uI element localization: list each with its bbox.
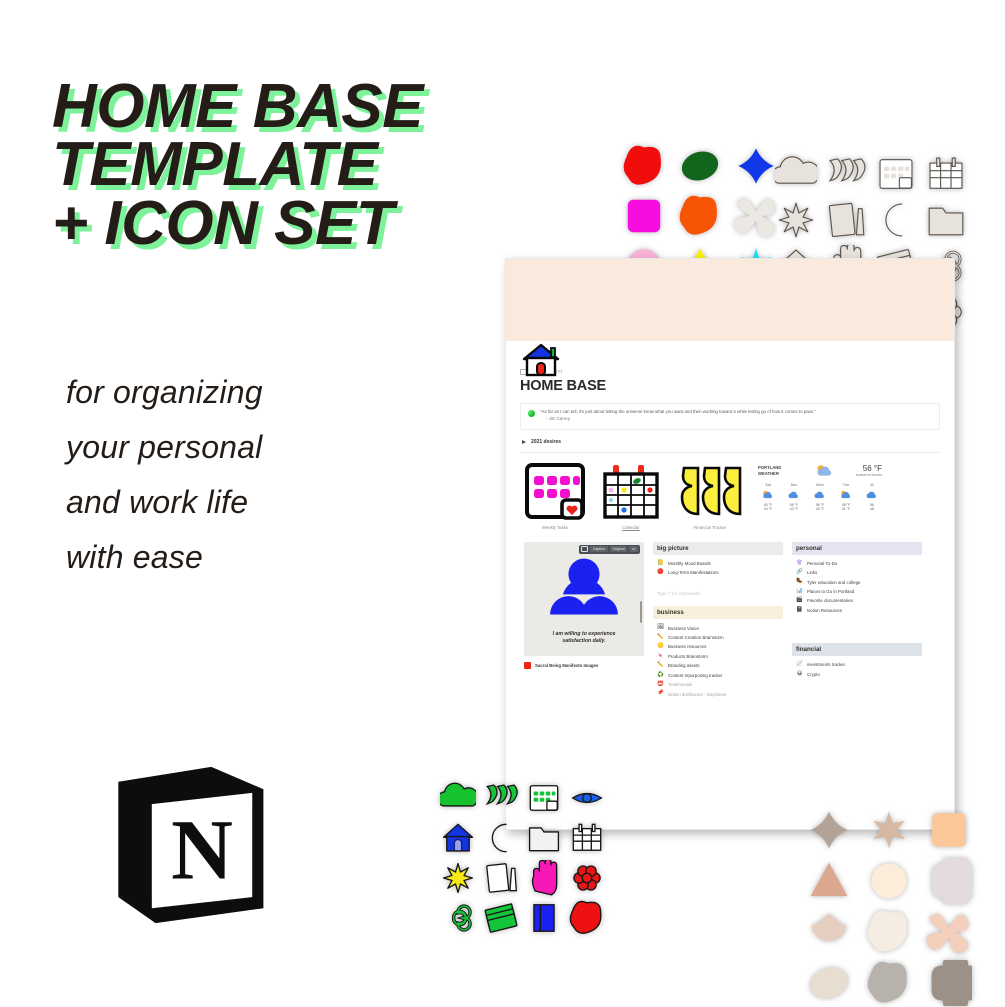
file-link[interactable]: Sacral Being Manifesto Images: [524, 662, 644, 669]
notebook-pen-icon[interactable]: [480, 858, 522, 897]
x-icon[interactable]: [920, 907, 978, 956]
item-label: Tyler education and college: [807, 580, 860, 585]
triangle-icon[interactable]: [800, 856, 858, 905]
cloud-icon[interactable]: [772, 152, 820, 196]
list-item[interactable]: 👚 Personal To-Do: [792, 559, 922, 568]
promo-subtitle: for organizing your personal and work li…: [66, 365, 396, 585]
circle-icon[interactable]: [860, 856, 918, 905]
book-icon[interactable]: [523, 898, 565, 937]
folder-icon[interactable]: [922, 198, 970, 242]
item-icon: 🟡: [657, 644, 664, 649]
item-label: Notion dashboard - Stephanie: [668, 692, 726, 697]
green-dot-icon: [528, 410, 535, 417]
square-icon[interactable]: [618, 193, 670, 239]
weather-forecast: Sat 60 °F44 °F Sun 58 °F43 °F Mon: [758, 483, 882, 512]
chevron-right-icon: [522, 440, 526, 444]
file-link-label: Sacral Being Manifesto Images: [535, 663, 598, 668]
item-label: Monthly Mood Boards: [668, 561, 711, 566]
item-label: Business resources: [668, 644, 706, 649]
list-item[interactable]: 📌 Notion dashboard - Stephanie: [653, 689, 783, 698]
item-label: Links: [807, 570, 817, 575]
item-icon: 🎬: [796, 598, 803, 603]
widget-financial-tracker[interactable]: Financial Tracker: [676, 462, 744, 530]
column-left: Caption Original •••: [524, 542, 644, 699]
list-item[interactable]: 🥾 Tyler education and college: [792, 577, 922, 586]
sun-cloud-icon: [814, 464, 834, 478]
calendar-widget-icon: [600, 462, 662, 520]
forecast-day: Sun 58 °F43 °F: [784, 483, 804, 512]
clover-icon[interactable]: [920, 856, 978, 905]
moon-icon[interactable]: [480, 818, 522, 857]
star-icon[interactable]: [860, 805, 918, 854]
widget-label: Weekly Tasks: [542, 525, 568, 530]
list-item[interactable]: ✏️ Branding assets: [653, 661, 783, 670]
caption-button[interactable]: Caption: [590, 546, 607, 552]
manifesto-artwork: [530, 554, 638, 620]
square-icon[interactable]: [920, 805, 978, 854]
blob-icon[interactable]: [674, 193, 726, 239]
poster-stage: HOME BASE TEMPLATE + ICON SET for organi…: [0, 0, 1005, 1005]
cloud-icon: [865, 490, 879, 500]
column-middle: big picture 📒 Monthly Mood Boards 🔴 Long…: [653, 542, 783, 699]
weekly-tasks-widget-icon: [524, 462, 586, 520]
item-icon: ✏️: [657, 663, 664, 668]
item-icon: 😀: [796, 672, 803, 677]
sun-cloud-icon: [761, 490, 775, 500]
drop-icon[interactable]: [800, 907, 858, 956]
item-icon: 🔴: [657, 570, 664, 575]
item-icon: 🔗: [796, 570, 803, 575]
item-label: Testimonials: [668, 682, 692, 687]
forecast-day: Mon 56 °F45 °F: [810, 483, 830, 512]
image-caption: I am willing to experience satisfaction …: [530, 631, 638, 646]
sunburst-icon[interactable]: [437, 858, 479, 897]
house-icon[interactable]: [437, 818, 479, 857]
notion-logo: N: [96, 752, 282, 938]
oval-icon[interactable]: [674, 143, 726, 189]
forecast-day: Tue 58 °F41 °F: [836, 483, 856, 512]
list-item[interactable]: 📓 Notion Resources: [792, 606, 922, 615]
oval-icon[interactable]: [800, 958, 858, 1007]
hand-icon[interactable]: [523, 858, 565, 897]
quote-author: - Jim Carrey: [546, 416, 816, 423]
list-item[interactable]: ♻️ Content repurposing tracker: [653, 671, 783, 680]
toggle-label: 2021 desires: [531, 439, 561, 445]
page-cover: [506, 259, 954, 341]
calendar-icon[interactable]: [922, 152, 970, 196]
item-icon: 📊: [796, 589, 803, 594]
weekly-grid-icon[interactable]: [523, 778, 565, 817]
item-icon: 🥾: [796, 579, 803, 584]
list-item[interactable]: 🍬 Products Brainstorm: [653, 652, 783, 661]
weather-temp: 56 °F: [856, 464, 882, 473]
calendar-icon[interactable]: [566, 818, 608, 857]
cash-icon[interactable]: [480, 898, 522, 937]
sticker-grid-bottom-left: [437, 778, 608, 937]
weather-city: PORTLAND WEATHER: [758, 465, 792, 476]
widget-row: Weekly Tasks: [520, 462, 940, 530]
infinity-icon[interactable]: [437, 898, 479, 937]
list-item[interactable]: 📊 Places to Go in Portland: [792, 587, 922, 596]
item-label: Content repurposing tracker: [668, 673, 722, 678]
item-icon: 📈: [796, 662, 803, 667]
item-label: Crypto: [807, 672, 820, 677]
widget-label: Financial Tracker: [694, 525, 727, 530]
command-placeholder[interactable]: Type '/' for commands: [653, 577, 783, 606]
section-header-personal: personal: [792, 542, 922, 555]
item-label: Personal To-Do: [807, 561, 837, 566]
cloud-icon: [813, 490, 827, 500]
list-item[interactable]: 🔴 Long-Term Manifestations: [653, 568, 783, 577]
item-icon: 🖼: [657, 625, 664, 630]
section-header-financial: financial: [792, 643, 922, 656]
list-item[interactable]: 📒 Monthly Mood Boards: [653, 559, 783, 568]
notion-window[interactable]: Add comment HOME BASE "As far as I can t…: [505, 258, 955, 830]
item-icon: 🍬: [657, 654, 664, 659]
notion-page-title[interactable]: HOME BASE: [520, 378, 940, 394]
money-stack-icon[interactable]: [822, 152, 870, 196]
widget-calendar[interactable]: Calendar: [600, 462, 662, 530]
item-label: Long-Term Manifestations: [668, 570, 719, 575]
forecast-day: Sat 60 °F44 °F: [758, 483, 778, 512]
file-icon: [524, 662, 531, 669]
weather-description: scattered clouds: [856, 473, 882, 477]
blob-icon[interactable]: [860, 907, 918, 956]
house-emoji-icon[interactable]: [518, 337, 564, 383]
quote-callout[interactable]: "As far as I can tell, it's just about l…: [520, 403, 940, 430]
list-item[interactable]: ✏️ Content Creation Brainstorm: [653, 633, 783, 642]
money-stack-icon[interactable]: [480, 778, 522, 817]
sun-cloud-icon: [839, 490, 853, 500]
diamond-icon[interactable]: [800, 805, 858, 854]
divider: [520, 452, 940, 453]
image-toolbar[interactable]: Caption Original •••: [579, 545, 640, 554]
item-icon: 📓: [796, 608, 803, 613]
item-label: Business Vision: [668, 626, 699, 631]
folder-icon[interactable]: [523, 818, 565, 857]
item-label: investments tracker: [807, 662, 845, 667]
sunburst-icon[interactable]: [772, 198, 820, 242]
list-item[interactable]: 🎬 Favorite documentaries: [792, 596, 922, 605]
item-label: Branding assets: [668, 663, 700, 668]
svg-text:N: N: [171, 802, 233, 897]
section-header-business: business: [653, 606, 783, 619]
list-item[interactable]: 😀 Crypto: [792, 670, 922, 679]
item-label: Places to Go in Portland: [807, 589, 854, 594]
item-icon: ♻️: [657, 673, 664, 678]
widget-label: Calendar: [622, 525, 639, 530]
notebook-pen-icon[interactable]: [822, 198, 870, 242]
item-label: Notion Resources: [807, 608, 842, 613]
blob-icon[interactable]: [618, 143, 670, 189]
flower-icon[interactable]: [566, 858, 608, 897]
weekly-grid-icon[interactable]: [872, 152, 920, 196]
widget-weekly-tasks[interactable]: Weekly Tasks: [524, 462, 586, 530]
image-scrollbar[interactable]: [640, 601, 642, 623]
more-options-button[interactable]: •••: [629, 546, 638, 552]
section-header-big-picture: big picture: [653, 542, 783, 555]
item-icon: ✏️: [657, 635, 664, 640]
item-icon: 👚: [796, 561, 803, 566]
item-label: Favorite documentaries: [807, 598, 853, 603]
item-label: Content Creation Brainstorm: [668, 635, 724, 640]
eye-icon[interactable]: [566, 778, 608, 817]
blob-icon[interactable]: [860, 958, 918, 1007]
sticker-grid-bottom-right: [800, 805, 978, 1007]
forecast-day: W 5648: [862, 483, 882, 512]
item-icon: 📛: [657, 682, 664, 687]
item-icon: 📌: [657, 691, 664, 696]
add-comment-button[interactable]: Add comment: [520, 369, 940, 375]
image-block[interactable]: Caption Original •••: [524, 542, 644, 656]
financial-tracker-widget-icon: [676, 462, 744, 520]
list-item[interactable]: 📈 investments tracker: [792, 660, 922, 669]
weather-widget[interactable]: PORTLAND WEATHER 56 °F scattered clouds …: [758, 462, 882, 530]
original-button[interactable]: Original: [610, 546, 627, 552]
list-item[interactable]: 🖼 Business Vision: [653, 623, 783, 632]
quote-text: "As far as I can tell, it's just about l…: [540, 409, 816, 423]
cloud-icon[interactable]: [437, 778, 479, 817]
item-icon: 📒: [657, 561, 664, 566]
toggle-2021-desires[interactable]: 2021 desires: [520, 437, 940, 449]
list-item[interactable]: 📛 Testimonials: [653, 680, 783, 689]
page-title: HOME BASE TEMPLATE + ICON SET: [52, 78, 522, 253]
column-right: personal 👚 Personal To-Do 🔗 Links 🥾 Tyle…: [792, 542, 922, 699]
clover-icon[interactable]: [920, 958, 978, 1007]
comment-icon[interactable]: [581, 546, 588, 552]
list-item[interactable]: 🔗 Links: [792, 568, 922, 577]
item-label: Products Brainstorm: [668, 654, 708, 659]
content-columns: Caption Original •••: [520, 530, 940, 699]
cloud-icon: [787, 490, 801, 500]
list-item[interactable]: 🟡 Business resources: [653, 642, 783, 651]
blob-icon[interactable]: [566, 898, 608, 937]
moon-icon[interactable]: [872, 198, 920, 242]
